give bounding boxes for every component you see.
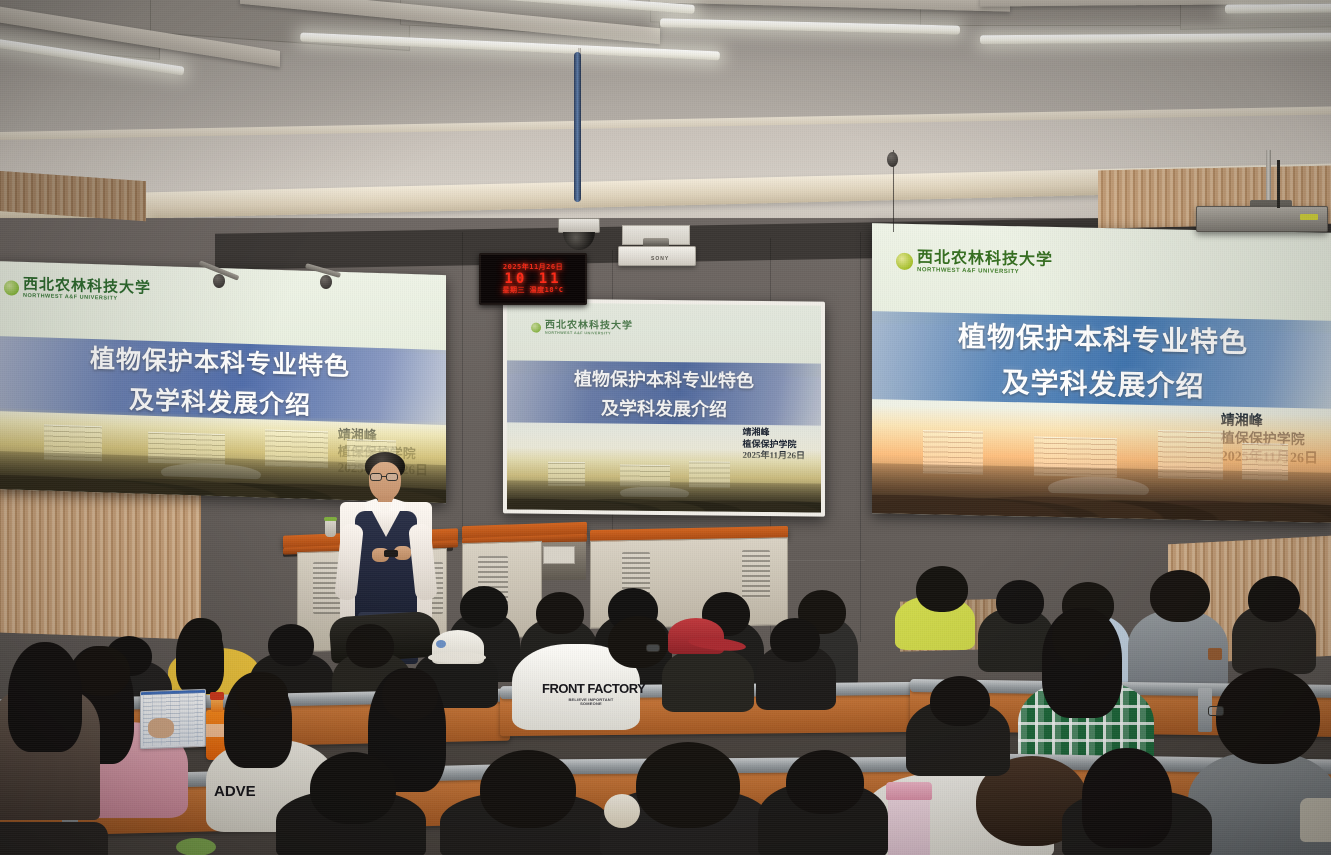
slide-right: 西北农林科技大学 NORTHWEST A&F UNIVERSITY 植物保护本科… <box>872 223 1331 523</box>
student-hand-on-keyboard <box>148 718 174 738</box>
lecture-hall-photo: 西北农林科技大学 NORTHWEST A&F UNIVERSITY 植物保护本科… <box>0 0 1331 855</box>
university-name-en: NORTHWEST A&F UNIVERSITY <box>545 332 633 337</box>
screen-cord-weight <box>887 152 898 167</box>
student-head <box>1248 576 1300 622</box>
bottle-neck <box>211 698 223 712</box>
student-head <box>268 624 314 666</box>
hoodie-sub-text: BELIEVE IMPORTANTSOMEONE <box>546 698 636 707</box>
pink-thermos-bottle <box>888 792 930 855</box>
slide-title-line-1: 植物保护本科专业特色 <box>958 314 1248 360</box>
center-projection-screen: 西北农林科技大学 NORTHWEST A&F UNIVERSITY 植物保护本科… <box>503 298 825 516</box>
slide-title-line-2: 及学科发展介绍 <box>601 394 727 421</box>
university-logo: 西北农林科技大学 NORTHWEST A&F UNIVERSITY <box>896 250 1053 276</box>
student-long-hair <box>8 642 82 752</box>
slide-title-band: 植物保护本科专业特色 及学科发展介绍 <box>507 360 821 425</box>
campus-photo <box>507 447 821 512</box>
podium-equipment-box <box>543 546 575 564</box>
cup-lid <box>324 517 337 521</box>
slide-center: 西北农林科技大学 NORTHWEST A&F UNIVERSITY 植物保护本科… <box>507 302 821 512</box>
fluorescent-tube-light <box>1225 3 1331 13</box>
university-name-cn: 西北农林科技大学 <box>917 250 1053 269</box>
slide-title-line-1: 植物保护本科专业特色 <box>574 365 754 393</box>
student-head <box>460 586 508 628</box>
hoodie-left-text: ADVE <box>214 784 256 799</box>
thermos-cap <box>886 782 932 800</box>
student-head <box>236 672 288 718</box>
led-line-top: 2025年11月26日 <box>503 264 563 271</box>
presentation-clicker <box>384 550 398 557</box>
student-head <box>1052 608 1114 664</box>
cap-brim <box>428 652 486 663</box>
screen-mount-knob-left-2 <box>320 275 332 289</box>
podium-vent-far-right-2 <box>742 550 770 598</box>
presenter-name: 靖湘峰 <box>742 427 805 439</box>
student-head <box>916 566 968 612</box>
slide-title-line-2: 及学科发展介绍 <box>1001 360 1204 404</box>
student-ponytail-head <box>636 742 740 828</box>
student-head <box>1150 570 1210 622</box>
student-long-hair <box>1082 748 1172 848</box>
student-head <box>74 646 130 696</box>
student-head <box>608 616 668 668</box>
fluorescent-tube-light <box>980 33 1331 45</box>
cap-logo-patch <box>436 640 446 648</box>
university-logo: 西北农林科技大学 NORTHWEST A&F UNIVERSITY <box>4 277 151 303</box>
student-body <box>662 648 754 712</box>
hoodie-brand-text: FRONT FACTORY <box>542 682 645 695</box>
leaf-icon <box>896 253 913 270</box>
student-head <box>786 750 864 814</box>
dome-security-camera <box>558 218 600 233</box>
slide-title-band: 植物保护本科专业特色 及学科发展介绍 <box>872 311 1331 409</box>
student-head <box>310 752 396 824</box>
led-line-bottom: 星期三 温度18°C <box>502 287 563 294</box>
eyeglasses-left-lens <box>370 473 382 481</box>
student-head <box>770 618 820 662</box>
leaf-icon <box>4 280 19 295</box>
bottle-cap <box>210 692 224 700</box>
wood-slat-wall-left <box>0 482 201 639</box>
led-marquee-sign: 2025年11月26日 10 11 星期三 温度18°C <box>479 253 587 305</box>
wall-mounted-projector: SONY <box>618 246 696 266</box>
led-line-clock: 10 11 <box>504 272 561 286</box>
fleece-pocket-tab <box>1208 648 1222 660</box>
student-head <box>1216 668 1320 764</box>
student-head <box>996 580 1044 624</box>
hair-scrunchie <box>604 794 640 828</box>
student-head <box>346 624 394 668</box>
water-cup <box>325 520 336 537</box>
ceiling-projector-cable <box>1277 160 1280 208</box>
screen-mount-knob-left <box>213 274 225 288</box>
student-eyeglasses <box>1208 706 1224 716</box>
student-head <box>182 618 222 656</box>
bag-on-bench <box>1300 798 1331 842</box>
leaf-icon <box>531 323 541 333</box>
student-head <box>480 750 576 828</box>
bench-rail-front <box>540 757 940 775</box>
eyeglasses-bridge <box>382 476 386 477</box>
eyeglasses-right-lens <box>386 473 398 481</box>
student-laptop[interactable] <box>140 689 206 749</box>
student-head <box>382 668 438 720</box>
student-eyeglasses <box>646 644 660 652</box>
projector-warning-sticker <box>1300 214 1318 220</box>
desk-item-green <box>176 838 216 855</box>
projector-brand-label: SONY <box>651 256 669 262</box>
presenter-affiliation: 植保保护学院 <box>742 438 805 450</box>
camera-cable <box>574 52 581 202</box>
university-logo: 西北农林科技大学 NORTHWEST A&F UNIVERSITY <box>531 321 633 337</box>
student-head <box>536 592 584 634</box>
slide-title-line-1: 植物保护本科专业特色 <box>90 338 350 382</box>
student-head <box>930 676 990 726</box>
campus-photo <box>872 405 1331 523</box>
bag-foreground-left <box>0 822 108 855</box>
right-projection-screen: 西北农林科技大学 NORTHWEST A&F UNIVERSITY 植物保护本科… <box>872 223 1331 523</box>
